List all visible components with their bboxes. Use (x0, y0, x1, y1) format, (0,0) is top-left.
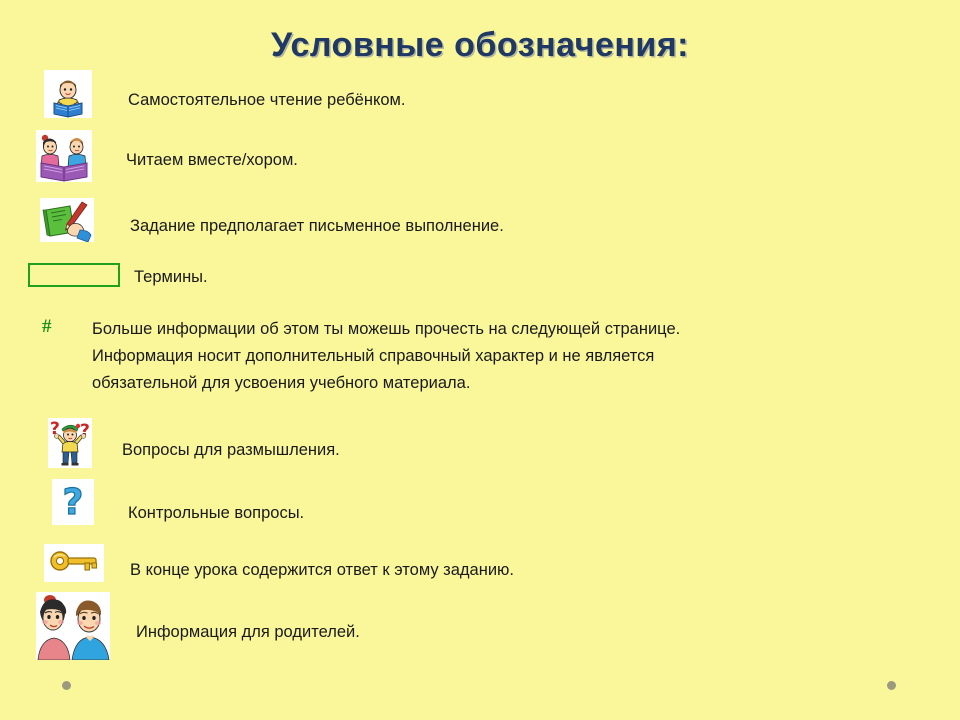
green-rectangle-marker (28, 263, 120, 287)
golden-key-icon (44, 544, 104, 582)
hash-marker: # (42, 316, 52, 338)
two-children-reading-icon (36, 130, 92, 182)
slide-canvas: Условные обозначения: Самостоят (0, 0, 960, 720)
legend-label-self-reading: Самостоятельное чтение ребёнком. (128, 88, 405, 113)
legend-label-reflection-questions: Вопросы для размышления. (122, 438, 340, 463)
legend-label-terms: Термины. (134, 265, 208, 290)
bottom-right-dot (887, 681, 896, 690)
page-title: Условные обозначения: (0, 26, 960, 65)
paragraph-line-3: обязательной для усвоения учебного матер… (92, 370, 680, 397)
legend-label-written-task: Задание предполагает письменное выполнен… (130, 214, 504, 239)
child-reading-book-icon (44, 70, 92, 118)
paragraph-line-1: Больше информации об этом ты можешь проч… (92, 316, 680, 343)
svg-text:?: ? (63, 482, 84, 523)
paragraph-line-2: Информация носит дополнительный справочн… (92, 343, 680, 370)
legend-paragraph-extra-info: Больше информации об этом ты можешь проч… (92, 316, 680, 397)
blue-question-mark-icon: ? (52, 479, 94, 525)
parents-couple-icon (36, 592, 110, 660)
notebook-pencil-icon (40, 198, 94, 242)
bottom-left-dot (62, 681, 71, 690)
legend-label-control-questions: Контрольные вопросы. (128, 501, 304, 526)
thinking-boy-questions-icon: ? ? (48, 418, 92, 468)
legend-label-read-together: Читаем вместе/хором. (126, 148, 298, 173)
legend-label-parents-info: Информация для родителей. (136, 620, 360, 645)
legend-label-answer-at-end: В конце урока содержится ответ к этому з… (130, 558, 514, 583)
